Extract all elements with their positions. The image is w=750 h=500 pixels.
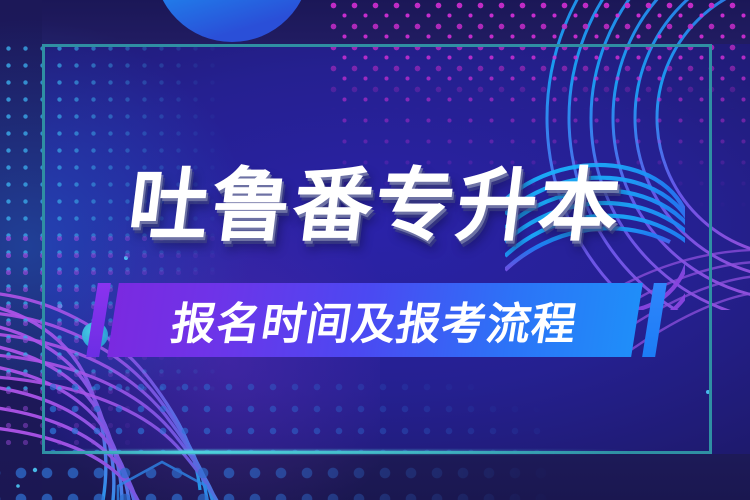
main-title-wrapper: 吐鲁番专升本 bbox=[0, 166, 750, 246]
subtitle-text-wrapper: 报名时间及报考流程 bbox=[107, 283, 643, 357]
subtitle-text: 报名时间及报考流程 bbox=[167, 288, 582, 352]
main-title: 吐鲁番专升本 bbox=[124, 166, 626, 246]
top-circle-decor bbox=[154, 0, 310, 42]
poster-banner: 吐鲁番专升本 报名时间及报考流程 bbox=[0, 0, 750, 500]
